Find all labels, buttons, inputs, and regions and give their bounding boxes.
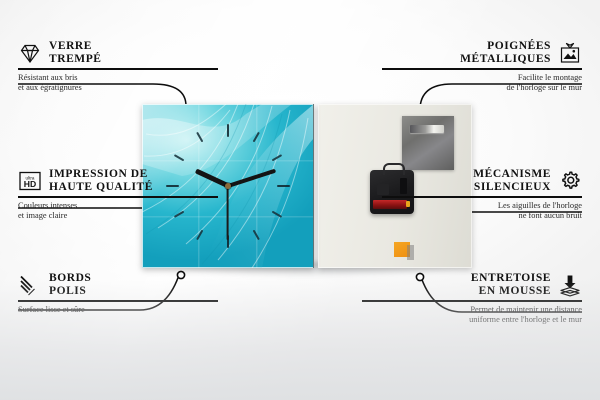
callout-header: VERRE TREMPÉ (18, 40, 218, 65)
callout-verre-trempe: VERRE TREMPÉ Résistant aux bris et aux é… (18, 40, 218, 93)
callout-mecanisme-silencieux: MÉCANISME SILENCIEUX Les aiguilles de l'… (382, 168, 582, 221)
callout-entretoise-en-mousse: ENTRETOISE EN MOUSSE Permet de maintenir… (362, 272, 582, 325)
callout-description: Surface lisse et sûre (18, 305, 218, 315)
foam-spacer-shadow (407, 245, 414, 260)
callout-header: ENTRETOISE EN MOUSSE (362, 272, 582, 297)
infographic-canvas: VERRE TREMPÉ Résistant aux bris et aux é… (0, 0, 600, 400)
callout-title: VERRE TREMPÉ (49, 40, 102, 65)
callout-title: ENTRETOISE EN MOUSSE (471, 272, 551, 297)
callout-title: POIGNÉES MÉTALLIQUES (460, 40, 551, 65)
callout-rule (382, 196, 582, 198)
callout-description: Facilite le montage de l'horloge sur le … (382, 73, 582, 93)
callout-rule (18, 68, 218, 70)
callout-description: Couleurs intenses et image claire (18, 201, 218, 221)
callout-title: BORDS POLIS (49, 272, 91, 297)
hanger-slot (410, 125, 444, 133)
callout-header: POIGNÉES MÉTALLIQUES (382, 40, 582, 65)
callout-description: Résistant aux bris et aux égratignures (18, 73, 218, 93)
foam-spacer (394, 242, 410, 257)
callout-header: ultra HD IMPRESSION DE HAUTE QUALITÉ (18, 168, 218, 193)
callout-title: IMPRESSION DE HAUTE QUALITÉ (49, 168, 153, 193)
tick-3 (228, 185, 290, 187)
callout-title: MÉCANISME SILENCIEUX (473, 168, 551, 193)
clock-edge (313, 104, 314, 268)
callout-description: Les aiguilles de l'horloge ne font aucun… (382, 201, 582, 221)
clock-center-pin (225, 183, 231, 189)
second-hand (227, 186, 229, 240)
diamond-icon (18, 41, 42, 65)
picture-frame-hook-icon (558, 41, 582, 65)
callout-rule (362, 300, 582, 302)
callout-header: BORDS POLIS (18, 272, 218, 297)
tick-12 (227, 124, 229, 186)
polished-edges-icon (18, 273, 42, 297)
metal-hanging-plate (402, 116, 454, 170)
callout-header: MÉCANISME SILENCIEUX (382, 168, 582, 193)
svg-text:HD: HD (24, 179, 36, 189)
callout-poignees-metalliques: POIGNÉES MÉTALLIQUES Facilite le montage… (382, 40, 582, 93)
callout-rule (382, 68, 582, 70)
callout-bords-polis: BORDS POLIS Surface lisse et sûre (18, 272, 218, 315)
callout-impression-haute-qualite: ultra HD IMPRESSION DE HAUTE QUALITÉ Cou… (18, 168, 218, 221)
callout-rule (18, 300, 218, 302)
ultra-hd-icon: ultra HD (18, 169, 42, 193)
gear-icon (558, 169, 582, 193)
callout-rule (18, 196, 218, 198)
callout-description: Permet de maintenir une distance uniform… (362, 305, 582, 325)
foam-spacer-arrow-icon (558, 273, 582, 297)
